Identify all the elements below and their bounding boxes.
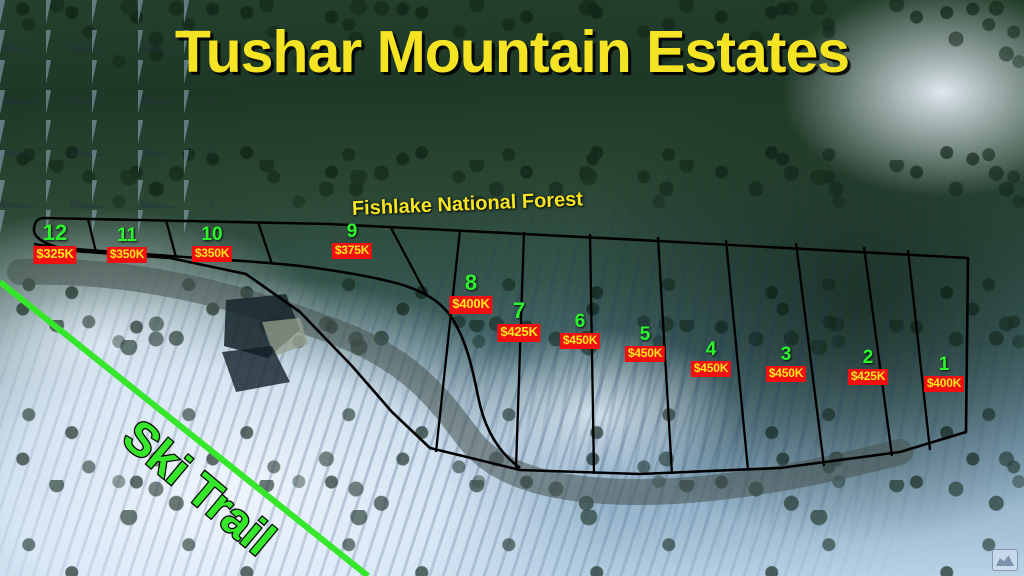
lot-divider-11-10 xyxy=(166,220,176,257)
lot-marker-12[interactable]: 12$325K xyxy=(33,222,76,264)
lot-divider-7-6 xyxy=(516,232,524,468)
lot-marker-1[interactable]: 1$400K xyxy=(924,355,964,392)
lot-number-label: 9 xyxy=(332,222,372,241)
lot-marker-4[interactable]: 4$450K xyxy=(691,340,731,377)
lot-price-badge: $350K xyxy=(192,246,232,262)
lot-number-label: 1 xyxy=(924,355,964,374)
lot-price-badge: $350K xyxy=(107,247,147,263)
lot-marker-3[interactable]: 3$450K xyxy=(766,345,806,382)
lot-marker-9[interactable]: 9$375K xyxy=(332,222,372,259)
lot-divider-12-11 xyxy=(88,219,96,252)
lot-price-badge: $425K xyxy=(848,369,888,385)
page-title: Tushar Mountain Estates xyxy=(0,18,1024,86)
lot-marker-11[interactable]: 11$350K xyxy=(107,226,147,263)
lot-number-label: 12 xyxy=(33,222,76,244)
lot-marker-2[interactable]: 2$425K xyxy=(848,348,888,385)
lot-price-badge: $450K xyxy=(625,346,665,362)
lot-marker-5[interactable]: 5$450K xyxy=(625,325,665,362)
lot-price-badge: $425K xyxy=(497,324,540,342)
lot-number-label: 6 xyxy=(560,312,600,331)
lot-price-badge: $400K xyxy=(449,296,492,314)
lot-price-badge: $450K xyxy=(560,333,600,349)
lot-number-label: 3 xyxy=(766,345,806,364)
lot-price-badge: $400K xyxy=(924,376,964,392)
lot-price-badge: $450K xyxy=(766,366,806,382)
lot-price-badge: $375K xyxy=(332,243,372,259)
national-forest-boundary-line xyxy=(44,218,968,258)
lot-divider-6-5 xyxy=(590,234,594,474)
lot-price-badge: $325K xyxy=(33,246,76,264)
lot-divider-1-edge xyxy=(908,250,930,450)
lot-marker-7[interactable]: 7$425K xyxy=(497,300,540,342)
lot-number-label: 10 xyxy=(192,225,232,244)
lot-number-label: 4 xyxy=(691,340,731,359)
lot-number-label: 5 xyxy=(625,325,665,344)
annotation-overlay xyxy=(0,0,1024,576)
aerial-lot-map-screenshot: Tushar Mountain Estates Fishlake Nationa… xyxy=(0,0,1024,576)
lot-price-badge: $450K xyxy=(691,361,731,377)
lot-number-label: 2 xyxy=(848,348,888,367)
lot-number-label: 8 xyxy=(449,272,492,294)
lot-number-label: 7 xyxy=(497,300,540,322)
lot-marker-6[interactable]: 6$450K xyxy=(560,312,600,349)
lot-marker-10[interactable]: 10$350K xyxy=(192,225,232,262)
lot-number-label: 11 xyxy=(107,226,147,245)
lot-divider-10-9 xyxy=(258,222,272,264)
photographer-logo-watermark xyxy=(992,549,1018,571)
lot-marker-8[interactable]: 8$400K xyxy=(449,272,492,314)
